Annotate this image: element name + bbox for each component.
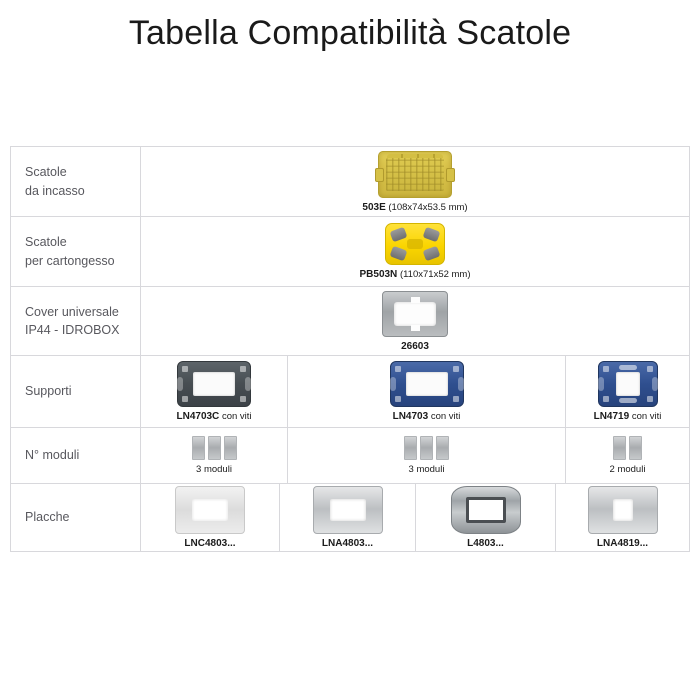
row-label-line1: Scatole [25, 235, 67, 249]
table-row-cover-universale: Cover universale IP44 - IDROBOX 26603 [11, 287, 689, 356]
caption-lna4803: LNA4803... [322, 538, 373, 549]
compatibility-table: Scatole da incasso 503E (108x74x53.5 mm)… [10, 146, 690, 552]
page-title: Tabella Compatibilità Scatole [0, 14, 700, 53]
module-count-icon [613, 436, 642, 460]
cell-moduli-3-left[interactable]: 3 moduli [141, 428, 288, 483]
detail-ln4719: con viti [632, 411, 662, 422]
row-label-n-moduli: N° moduli [11, 428, 141, 483]
table-row-n-moduli: N° moduli 3 moduli 3 moduli 2 moduli [11, 428, 689, 484]
caption-moduli-2-right: 2 moduli [610, 464, 646, 475]
table-row-placche: Placche LNC4803... LNA4803... [11, 484, 689, 551]
plate-white-icon [175, 486, 245, 534]
caption-ln4703: LN4703 con viti [393, 411, 461, 422]
code-lna4803: LNA4803... [322, 538, 373, 549]
row-label-line1: N° moduli [25, 446, 79, 464]
module-count-icon [192, 436, 237, 460]
plate-metal-icon [451, 486, 521, 534]
row-body-scatole-per-cartongesso: PB503N (110x71x52 mm) [141, 217, 689, 286]
row-body-scatole-da-incasso: 503E (108x74x53.5 mm) [141, 147, 689, 216]
row-body-n-moduli: 3 moduli 3 moduli 2 moduli [141, 428, 689, 483]
caption-l4803: L4803... [467, 538, 504, 549]
detail-pb503n: (110x71x52 mm) [400, 269, 471, 280]
caption-ln4719: LN4719 con viti [594, 411, 662, 422]
caption-moduli-3-center: 3 moduli [409, 464, 445, 475]
code-lnc4803: LNC4803... [184, 538, 235, 549]
plate-silver-icon [313, 486, 383, 534]
row-label-line1: Scatole [25, 165, 67, 179]
caption-ln4703c: LN4703C con viti [176, 411, 251, 422]
code-ln4703c: LN4703C [176, 411, 219, 422]
row-label-line1: Cover universale [25, 305, 119, 319]
code-l4803: L4803... [467, 538, 504, 549]
cell-ln4703[interactable]: LN4703 con viti [288, 356, 566, 427]
caption-503e: 503E (108x74x53.5 mm) [362, 202, 467, 213]
cell-ln4719[interactable]: LN4719 con viti [566, 356, 689, 427]
plate-silver-2module-icon [588, 486, 658, 534]
cell-pb503n[interactable]: PB503N (110x71x52 mm) [141, 217, 689, 286]
caption-lnc4803: LNC4803... [184, 538, 235, 549]
row-label-line2: da incasso [25, 184, 85, 198]
row-label-scatole-da-incasso: Scatole da incasso [11, 147, 141, 216]
caption-lna4819: LNA4819... [597, 538, 648, 549]
module-count-icon [404, 436, 449, 460]
row-label-supporti: Supporti [11, 356, 141, 427]
row-label-line2: per cartongesso [25, 254, 115, 268]
idrobox-cover-icon [382, 291, 448, 337]
support-frame-grey-icon [177, 361, 251, 407]
cell-lna4803[interactable]: LNA4803... [280, 484, 416, 551]
cell-26603[interactable]: 26603 [141, 287, 689, 355]
code-26603: 26603 [401, 341, 429, 352]
code-ln4719: LN4719 [594, 411, 630, 422]
cell-moduli-2-right[interactable]: 2 moduli [566, 428, 689, 483]
detail-ln4703c: con viti [222, 411, 252, 422]
row-body-supporti: LN4703C con viti LN4703 con viti [141, 356, 689, 427]
drywall-box-icon [385, 223, 445, 265]
flush-mount-box-icon [378, 151, 452, 198]
cell-l4803[interactable]: L4803... [416, 484, 556, 551]
caption-26603: 26603 [401, 341, 429, 352]
cell-lna4819[interactable]: LNA4819... [556, 484, 689, 551]
table-row-supporti: Supporti LN4703C con viti [11, 356, 689, 428]
support-frame-blue-2module-icon [598, 361, 658, 407]
row-label-placche: Placche [11, 484, 141, 551]
support-frame-blue-icon [390, 361, 464, 407]
row-label-line1: Supporti [25, 382, 72, 400]
table-row-scatole-per-cartongesso: Scatole per cartongesso PB503N (110x71x5… [11, 217, 689, 287]
cell-lnc4803[interactable]: LNC4803... [141, 484, 280, 551]
caption-pb503n: PB503N (110x71x52 mm) [359, 269, 470, 280]
row-label-scatole-per-cartongesso: Scatole per cartongesso [11, 217, 141, 286]
cell-moduli-3-center[interactable]: 3 moduli [288, 428, 566, 483]
cell-ln4703c[interactable]: LN4703C con viti [141, 356, 288, 427]
caption-moduli-3-left: 3 moduli [196, 464, 232, 475]
row-body-placche: LNC4803... LNA4803... L4803... [141, 484, 689, 551]
row-body-cover-universale: 26603 [141, 287, 689, 355]
code-503e: 503E [362, 202, 385, 213]
detail-503e: (108x74x53.5 mm) [388, 202, 467, 213]
code-lna4819: LNA4819... [597, 538, 648, 549]
cell-503e[interactable]: 503E (108x74x53.5 mm) [141, 147, 689, 216]
detail-ln4703: con viti [431, 411, 461, 422]
row-label-line1: Placche [25, 508, 69, 526]
code-ln4703: LN4703 [393, 411, 429, 422]
row-label-line2: IP44 - IDROBOX [25, 323, 119, 337]
code-pb503n: PB503N [359, 269, 397, 280]
table-row-scatole-da-incasso: Scatole da incasso 503E (108x74x53.5 mm) [11, 147, 689, 217]
row-label-cover-universale: Cover universale IP44 - IDROBOX [11, 287, 141, 355]
